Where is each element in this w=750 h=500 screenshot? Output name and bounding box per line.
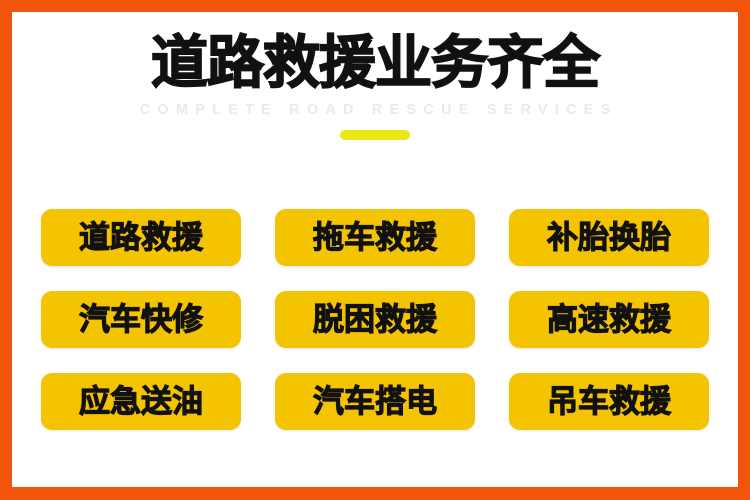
service-pill-tire-repair-replace[interactable]: 补胎换胎: [509, 209, 709, 266]
service-pill-label: 拖车救援: [313, 221, 437, 255]
service-pill-label: 高速救援: [547, 303, 671, 337]
poster-canvas: 道路救援业务齐全 COMPLETE ROAD RESCUE SERVICES 道…: [12, 12, 738, 487]
poster-frame: 道路救援业务齐全 COMPLETE ROAD RESCUE SERVICES 道…: [0, 0, 750, 500]
accent-divider: [340, 130, 410, 140]
service-pill-label: 应急送油: [79, 385, 203, 419]
service-pill-highway-rescue[interactable]: 高速救援: [509, 291, 709, 348]
page-subtitle: COMPLETE ROAD RESCUE SERVICES: [12, 101, 738, 119]
service-pill-crane-rescue[interactable]: 吊车救援: [509, 373, 709, 430]
service-pill-label: 补胎换胎: [547, 221, 671, 255]
page-title: 道路救援业务齐全: [12, 32, 738, 94]
service-pill-label: 道路救援: [79, 221, 203, 255]
service-grid: 道路救援 拖车救援 补胎换胎 汽车快修 脱困救援 高速救援 应急送油 汽车搭电: [41, 209, 709, 430]
service-pill-extrication-rescue[interactable]: 脱困救援: [275, 291, 475, 348]
service-pill-quick-car-repair[interactable]: 汽车快修: [41, 291, 241, 348]
service-pill-label: 汽车搭电: [313, 385, 437, 419]
poster-header: 道路救援业务齐全 COMPLETE ROAD RESCUE SERVICES: [12, 32, 738, 140]
service-pill-road-rescue[interactable]: 道路救援: [41, 209, 241, 266]
service-pill-label: 脱困救援: [313, 303, 437, 337]
service-pill-emergency-fuel-delivery[interactable]: 应急送油: [41, 373, 241, 430]
service-pill-label: 吊车救援: [547, 385, 671, 419]
service-pill-label: 汽车快修: [79, 303, 203, 337]
service-pill-jump-start[interactable]: 汽车搭电: [275, 373, 475, 430]
service-pill-tow-rescue[interactable]: 拖车救援: [275, 209, 475, 266]
